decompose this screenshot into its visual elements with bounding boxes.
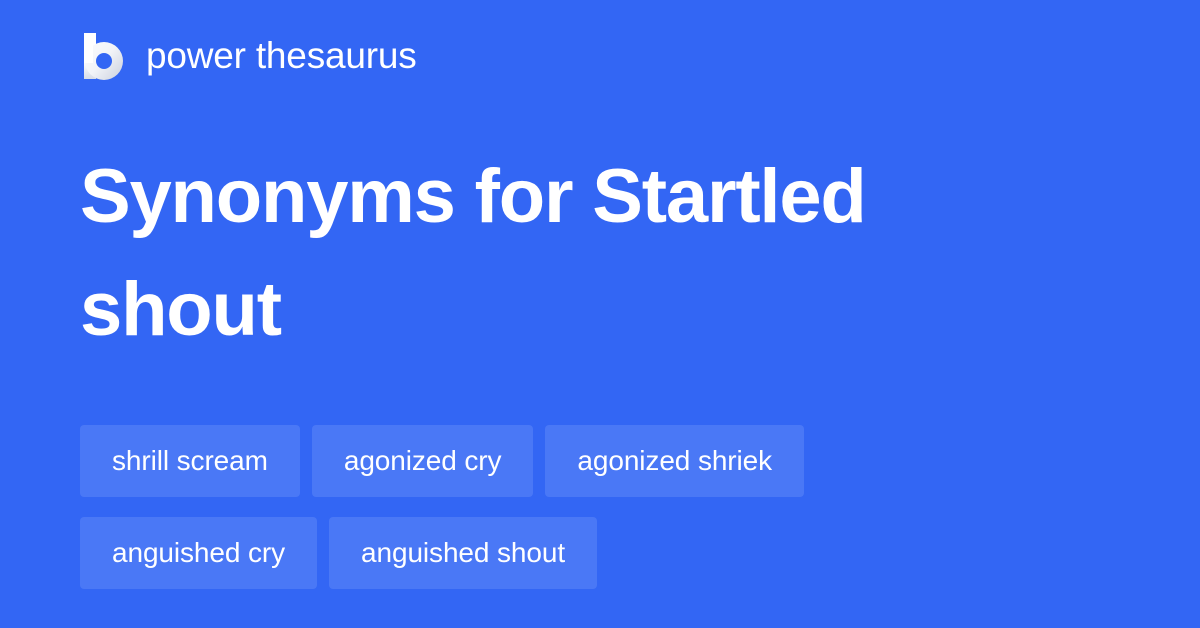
page-title: Synonyms for Startled shout xyxy=(80,140,1080,366)
synonym-chip[interactable]: agonized shriek xyxy=(545,425,804,497)
synonym-chip[interactable]: anguished shout xyxy=(329,517,597,589)
power-thesaurus-logo-icon xyxy=(80,31,124,81)
synonym-chip[interactable]: shrill scream xyxy=(80,425,300,497)
synonym-chip-row: anguished cry anguished shout xyxy=(80,517,1120,589)
synonym-chip[interactable]: agonized cry xyxy=(312,425,534,497)
page-title-line-2: shout xyxy=(80,253,1080,366)
synonym-chip-row: shrill scream agonized cry agonized shri… xyxy=(80,425,1120,497)
synonym-chip-list: shrill scream agonized cry agonized shri… xyxy=(80,425,1120,589)
share-card: power thesaurus Synonyms for Startled sh… xyxy=(0,0,1200,628)
synonym-chip[interactable]: anguished cry xyxy=(80,517,317,589)
brand-name: power thesaurus xyxy=(146,34,417,78)
brand-header[interactable]: power thesaurus xyxy=(80,28,417,84)
page-title-line-1: Synonyms for Startled xyxy=(80,140,1080,253)
